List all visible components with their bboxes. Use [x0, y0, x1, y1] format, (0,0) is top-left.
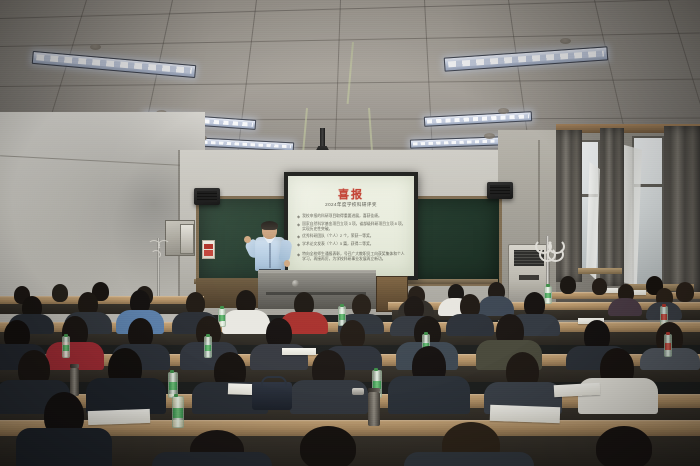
slide-bullet-text: 国家自然科学基金项目立项 3 项，省部级科研项目立项 8 项，实现历史性突破。 [302, 222, 407, 232]
window-curtain [600, 128, 624, 286]
thermos-flask [70, 368, 79, 396]
audience-body [446, 314, 494, 336]
bottle-cap [340, 304, 344, 307]
bottle-cap [546, 284, 550, 287]
coat-rack-hook [547, 247, 564, 262]
bottle-label [169, 382, 177, 390]
audience-body [290, 380, 368, 414]
lecture-hall-photo: 喜报 2024年度学校科研评奖 ◆ 我校申报的科研项目取得重要进展，喜获佳绩。 … [0, 0, 700, 466]
water-bottle [664, 334, 672, 357]
handbag [252, 382, 292, 410]
bottle-cap [220, 306, 224, 309]
slide-bullet: ◆ 特向全校师生通报表彰，号召广大教职员工向获奖集体和个人学习，再接再厉，为学校… [297, 252, 407, 262]
slide-bullet-list: ◆ 我校申报的科研项目取得重要进展，喜获佳绩。 ◆ 国家自然科学基金项目立项 3… [297, 214, 407, 264]
bullet-marker: ◆ [297, 252, 300, 262]
bottle-label [173, 408, 183, 418]
audience-body [404, 452, 534, 466]
slide-subtitle: 2024年度学校科研评奖 [288, 202, 414, 208]
electrical-panel-door[interactable] [180, 224, 194, 254]
bottle-cap [666, 332, 670, 335]
light-tube [427, 114, 529, 123]
window-curtain [664, 126, 700, 292]
paper-sheet [88, 409, 150, 425]
paper-sheet [282, 348, 316, 355]
bottle-cap [374, 368, 378, 371]
thermos-flask [368, 392, 380, 426]
slide-bullet: ◆ 我校申报的科研项目取得重要进展，喜获佳绩。 [297, 214, 407, 219]
audience-body [608, 298, 642, 316]
audience-head [300, 426, 356, 466]
bottle-cap [662, 304, 666, 307]
water-bottle [204, 336, 212, 358]
podium-knob [292, 280, 299, 287]
paper-sheet [554, 383, 601, 397]
coat-rack-hook [158, 240, 170, 250]
slide-title: 喜报 [288, 186, 414, 202]
thermos-cap [70, 364, 79, 368]
handbag-handle [261, 376, 287, 387]
water-bottle [172, 396, 184, 428]
bullet-marker: ◆ [297, 242, 300, 247]
coat-rack-hook [151, 250, 161, 259]
bottle-cap [174, 394, 178, 397]
audience-body [16, 428, 112, 466]
presenter-hair [261, 221, 278, 230]
audience-body [222, 310, 270, 334]
bottle-cap [64, 334, 68, 337]
window-sill [578, 268, 622, 274]
audience-head [676, 282, 694, 302]
sprinkler-head [484, 133, 495, 139]
audience-head [560, 276, 576, 294]
presenter-left-hand [244, 236, 251, 243]
podium-panel-seam [266, 292, 366, 295]
bottle-cap [170, 370, 174, 373]
slide-bullet-text: 我校申报的科研项目取得重要进展，喜获佳绩。 [302, 214, 382, 219]
bottle-label [665, 343, 671, 350]
light-tube [413, 139, 499, 146]
projection-screen: 喜报 2024年度学校科研评奖 ◆ 我校申报的科研项目取得重要进展，喜获佳绩。 … [288, 176, 414, 276]
slide-bullet-text: 特向全校师生通报表彰，号召广大教职员工向获奖集体和个人学习，再接再厉，为学校科研… [302, 252, 407, 262]
audience-body [86, 378, 166, 414]
bottle-cap [206, 334, 210, 337]
electrical-panel[interactable] [165, 220, 195, 256]
thermos-cap [368, 388, 380, 392]
poster-banner [204, 244, 213, 249]
audience-head [52, 284, 68, 302]
presenter-right-hand [284, 260, 290, 267]
wall-speaker [487, 182, 513, 199]
bottle-label [545, 293, 551, 298]
metal-cup [352, 388, 364, 395]
wall-poster [202, 240, 215, 259]
sprinkler-head [498, 108, 509, 114]
audience-head [596, 426, 652, 466]
bottle-label [63, 345, 69, 351]
slide-bullet: ◆ 国家自然科学基金项目立项 3 项，省部级科研项目立项 8 项，实现历史性突破… [297, 222, 407, 232]
water-bottle [62, 336, 70, 358]
wall-speaker [194, 188, 220, 205]
bullet-marker: ◆ [297, 214, 300, 219]
poster-footer [204, 250, 213, 256]
slide-bullet: ◆ 学术论文发表（个人）5 篇，获得二等奖。 [297, 242, 407, 247]
slide-bullet-text: 优秀科研团队（个人）2 个，荣获一等奖。 [302, 234, 374, 239]
bullet-marker: ◆ [297, 234, 300, 239]
light-tube [203, 140, 291, 148]
audience-head [592, 278, 607, 295]
audience-body [478, 296, 514, 316]
bottle-label [219, 315, 225, 320]
slide-bullet: ◆ 优秀科研团队（个人）2 个，荣获一等奖。 [297, 234, 407, 239]
audience-body [388, 376, 470, 414]
sprinkler-head [560, 38, 571, 44]
audience-body [152, 452, 272, 466]
bottle-cap [424, 332, 428, 335]
bottle-label [205, 345, 211, 351]
paper-sheet [490, 405, 561, 423]
water-bottle [544, 286, 552, 304]
bottle-label [661, 314, 667, 320]
bottle-label [339, 314, 345, 320]
bullet-marker: ◆ [297, 222, 300, 232]
slide-bullet-text: 学术论文发表（个人）5 篇，获得二等奖。 [302, 242, 374, 247]
sprinkler-head [90, 44, 101, 50]
presenter-shirt-placket [269, 241, 271, 268]
